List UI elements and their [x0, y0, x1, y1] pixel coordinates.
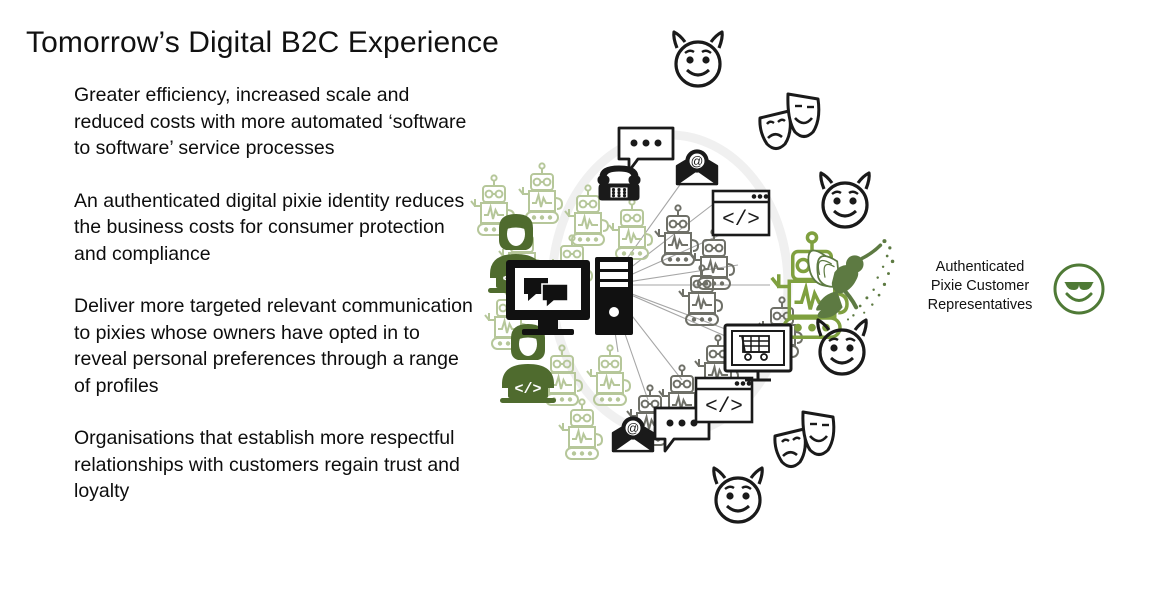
legend-label-line-1: Authenticated [920, 258, 1040, 277]
shopping-cart-monitor-icon [725, 325, 791, 380]
devil-smiley-icon [821, 173, 869, 227]
paragraph-trust: Organisations that establish more respec… [74, 425, 474, 505]
envelope-at-icon [677, 151, 717, 185]
desktop-tower-icon [595, 257, 633, 335]
code-window-icon [696, 378, 752, 422]
devil-smiley-icon [674, 32, 722, 86]
theatre-masks-icon [760, 94, 819, 149]
page-title: Tomorrow’s Digital B2C Experience [26, 26, 499, 60]
robot-icon-pale [519, 163, 562, 223]
robot-icon-pale [559, 399, 602, 459]
code-window-icon [713, 191, 769, 235]
telephone-icon [598, 166, 640, 200]
speech-bubble-icon [619, 128, 673, 171]
person-laptop-code-icon [500, 324, 556, 403]
theatre-masks-icon [775, 412, 834, 467]
legend-label: Authenticated Pixie Customer Representat… [920, 258, 1040, 315]
paragraph-efficiency: Greater efficiency, increased scale and … [74, 82, 474, 162]
robot-icon-pale [609, 199, 652, 259]
monitor-chat-bubbles-icon [506, 260, 590, 335]
paragraph-communication: Deliver more targeted relevant communica… [74, 293, 474, 399]
central-hub [506, 257, 633, 335]
body-copy: Greater efficiency, increased scale and … [74, 82, 474, 505]
legend-label-line-3: Representatives [920, 296, 1040, 315]
smiley-sunglasses-icon [1052, 262, 1106, 316]
legend-label-line-2: Pixie Customer [920, 277, 1040, 296]
paragraph-identity: An authenticated digital pixie identity … [74, 188, 474, 268]
devil-smiley-icon [714, 468, 762, 522]
